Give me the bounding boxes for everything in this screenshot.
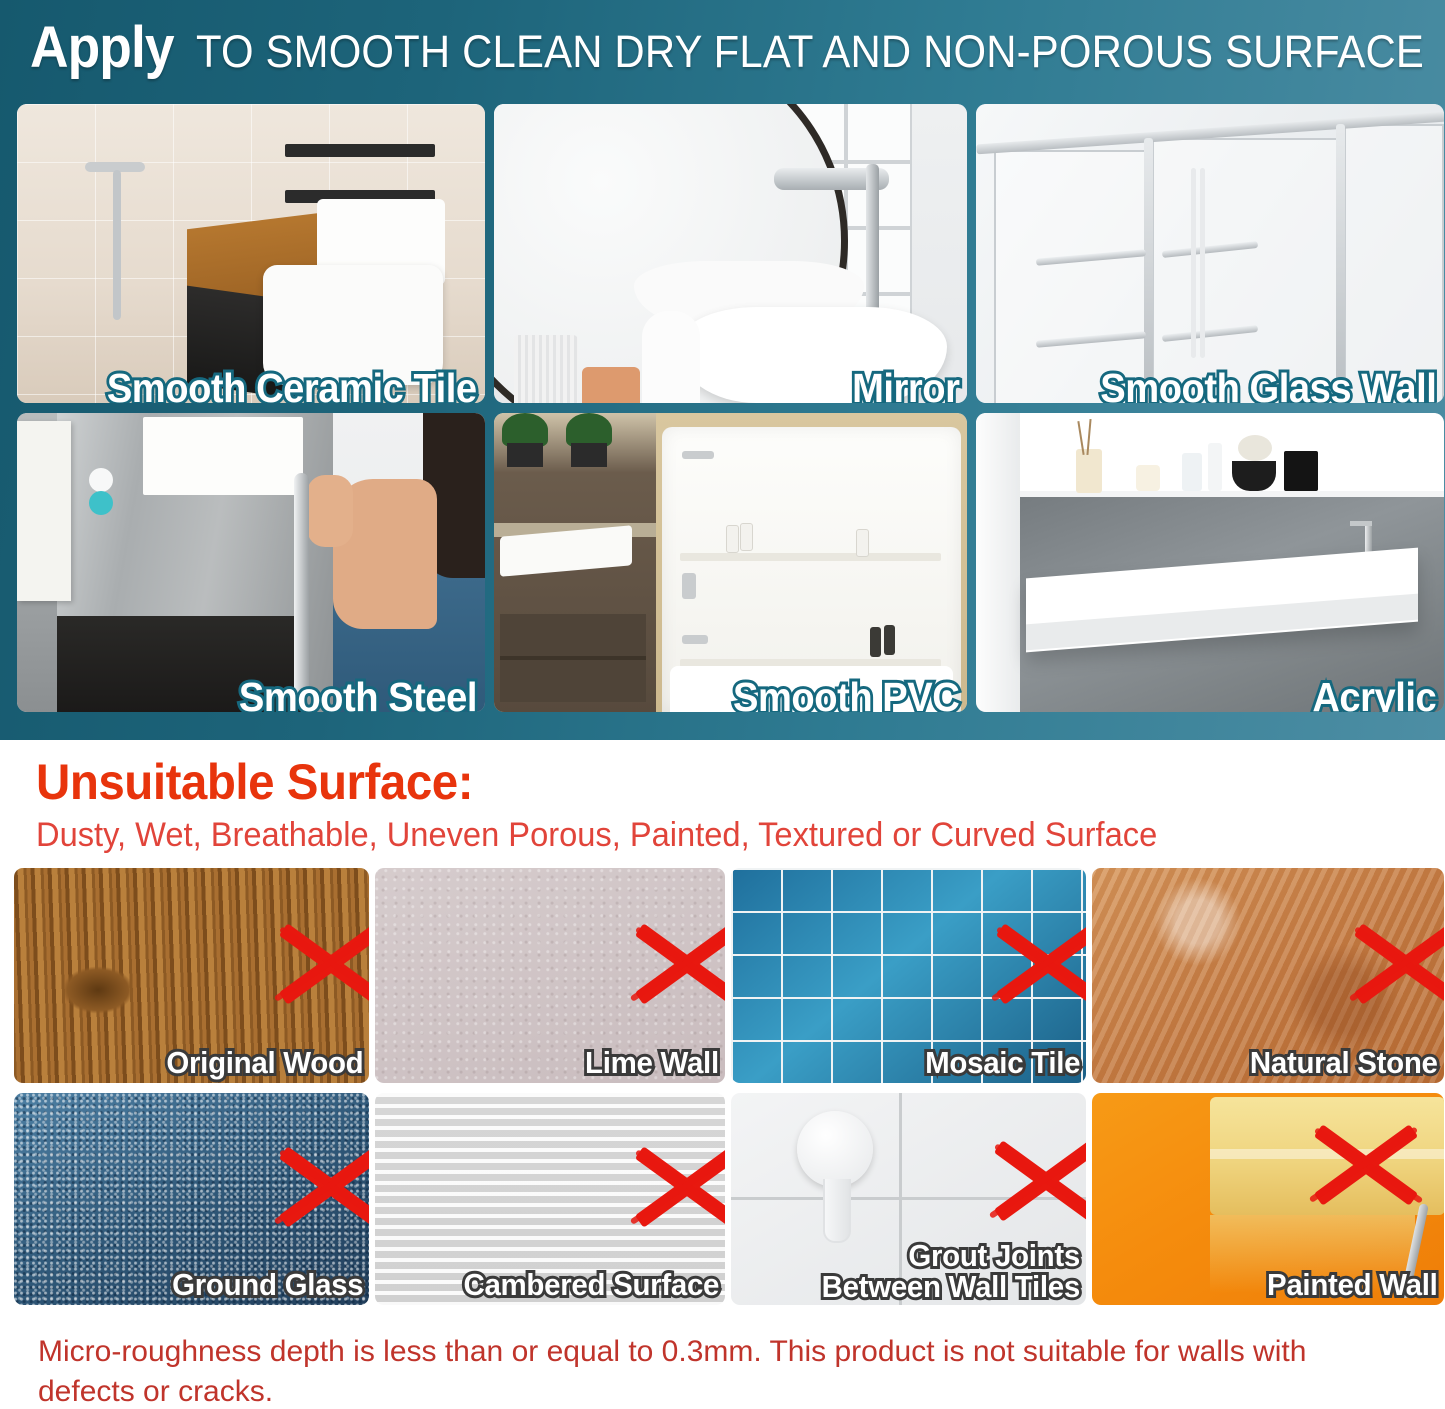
apply-tile-smooth-pvc: Smooth PVC: [494, 413, 967, 712]
apply-tile-mirror: Mirror: [494, 104, 967, 403]
unsuitable-tile-grout-joints: Grout JointsBetween Wall Tiles: [731, 1093, 1086, 1305]
apply-tile-smooth-ceramic-tile: Smooth Ceramic Tile: [17, 104, 485, 403]
apply-tile-acrylic: Acrylic: [976, 413, 1444, 712]
red-x-icon: [271, 904, 369, 1024]
unsuitable-title: Unsuitable Surface:: [36, 757, 473, 807]
unsuitable-tile-label: Original Wood: [166, 1047, 363, 1079]
apply-tile-smooth-steel: Smooth Steel: [17, 413, 485, 712]
apply-tile-smooth-glass-wall: Smooth Glass Wall: [976, 104, 1444, 403]
apply-section: ApplyTO SMOOTH CLEAN DRY FLAT AND NON-PO…: [0, 0, 1445, 740]
unsuitable-tile-painted-wall: Painted Wall: [1092, 1093, 1444, 1305]
red-x-icon: [627, 1127, 725, 1247]
red-x-icon: [271, 1127, 369, 1247]
unsuitable-tile-mosaic-tile: Mosaic Tile: [731, 868, 1086, 1083]
red-x-icon: [986, 1121, 1086, 1241]
suction-hook-icon: [797, 1111, 873, 1187]
acrylic-bath-panel-photo: [976, 413, 1444, 712]
apply-heading-highlight: Apply: [30, 14, 174, 81]
unsuitable-surface-grid: Original Wood Lime Wall Mosaic Tile Natu…: [14, 868, 1432, 1305]
unsuitable-tile-natural-stone: Natural Stone: [1092, 868, 1444, 1083]
unsuitable-section: Unsuitable Surface: Dusty, Wet, Breathab…: [0, 740, 1445, 1409]
steel-refrigerator-photo: [17, 413, 485, 712]
product-infographic: ApplyTO SMOOTH CLEAN DRY FLAT AND NON-PO…: [0, 0, 1445, 1409]
footnote-text: Micro-roughness depth is less than or eq…: [38, 1332, 1368, 1409]
apply-heading-rest: TO SMOOTH CLEAN DRY FLAT AND NON-POROUS …: [196, 26, 1424, 78]
unsuitable-tile-original-wood: Original Wood: [14, 868, 369, 1083]
red-x-icon: [1346, 904, 1444, 1024]
unsuitable-tile-label: Ground Glass: [172, 1269, 363, 1301]
unsuitable-tile-lime-wall: Lime Wall: [375, 868, 725, 1083]
unsuitable-tile-label-line2: Between Wall Tiles: [822, 1269, 1080, 1304]
red-x-icon: [627, 904, 725, 1024]
unsuitable-subtitle: Dusty, Wet, Breathable, Uneven Porous, P…: [36, 818, 1157, 852]
unsuitable-tile-cambered-surface: Cambered Surface: [375, 1093, 725, 1305]
unsuitable-tile-label: Cambered Surface: [463, 1269, 719, 1301]
unsuitable-tile-label: Lime Wall: [585, 1047, 719, 1079]
unsuitable-tile-ground-glass: Ground Glass: [14, 1093, 369, 1305]
red-x-icon: [988, 904, 1086, 1024]
apply-surface-grid: Smooth Ceramic Tile Mirror: [17, 104, 1428, 722]
mirror-vanity-photo: [494, 104, 967, 403]
apply-heading: ApplyTO SMOOTH CLEAN DRY FLAT AND NON-PO…: [30, 14, 1420, 84]
pvc-tub-surround-photo: [494, 413, 967, 712]
glass-shower-enclosure-photo: [976, 104, 1444, 403]
unsuitable-tile-label: Natural Stone: [1250, 1047, 1438, 1079]
unsuitable-tile-label-line1: Grout Joints: [908, 1238, 1080, 1273]
ceramic-tile-shower-photo: [17, 104, 485, 403]
unsuitable-tile-label: Grout JointsBetween Wall Tiles: [822, 1240, 1080, 1303]
unsuitable-tile-label: Mosaic Tile: [925, 1047, 1080, 1079]
